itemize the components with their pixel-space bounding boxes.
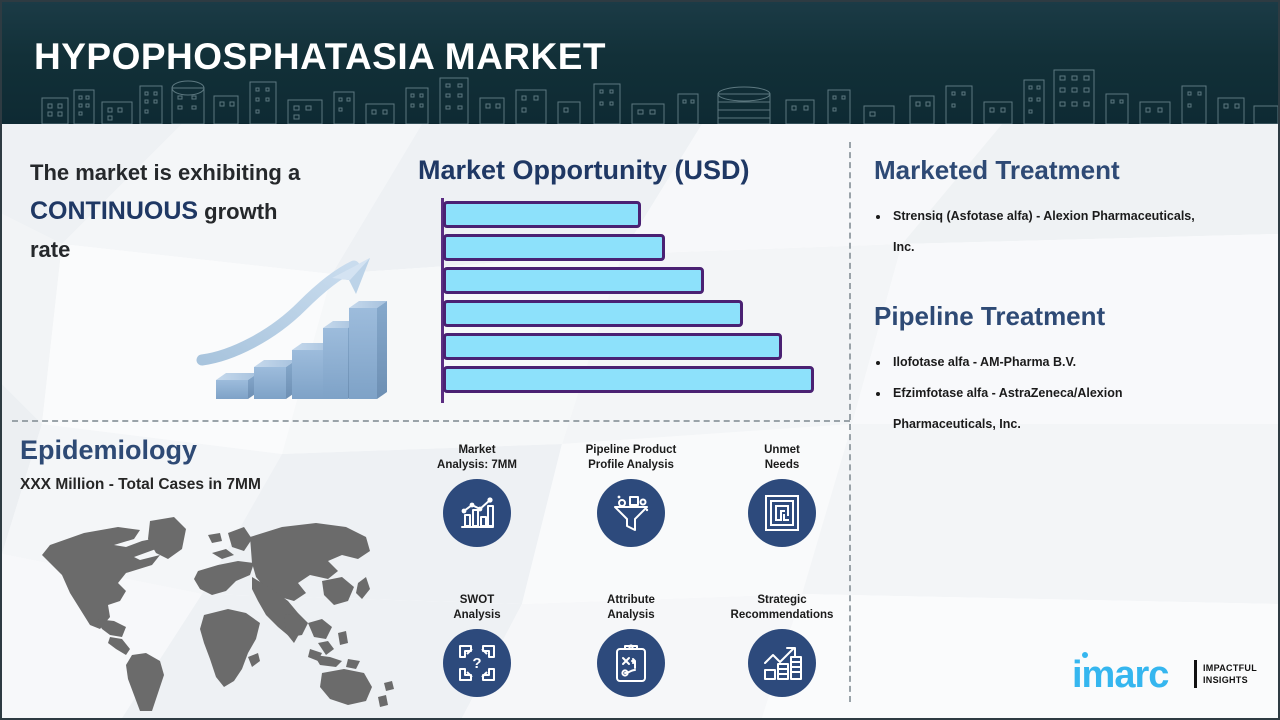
- logo-tagline: IMPACTFUL INSIGHTS: [1203, 662, 1257, 686]
- icon-label-line-2: Analysis: 7MM: [402, 458, 552, 473]
- world-map-icon: [22, 497, 422, 712]
- clipboard-strategy-icon: [611, 642, 651, 684]
- icon-label-line-2: Needs: [707, 458, 857, 473]
- icon-label-line-2: Recommendations: [707, 608, 857, 623]
- 3d-growth-bar-chart-arrow-icon: [192, 252, 407, 412]
- icon-label-line-1: Pipeline Product: [556, 443, 706, 458]
- chart-bar: [443, 267, 704, 294]
- epidemiology-subtitle: XXX Million - Total Cases in 7MM: [20, 476, 261, 494]
- growth-arrow-bars-icon: [761, 643, 803, 683]
- lead-line-3: rate: [30, 237, 70, 262]
- marketed-treatment-title: Marketed Treatment: [874, 155, 1120, 186]
- chart-bar: [443, 300, 743, 327]
- icon-label-line-1: Market: [402, 443, 552, 458]
- icon-cell-pipeline-product-profile-analysis[interactable]: Pipeline Product Profile Analysis: [556, 443, 706, 547]
- swot-arrows-question-icon: ?: [456, 642, 498, 684]
- page-title: HYPOPHOSPHATASIA MARKET: [34, 36, 606, 78]
- icon-cell-attribute-analysis[interactable]: Attribute Analysis: [556, 593, 706, 697]
- market-opportunity-bar-chart: [441, 198, 841, 403]
- icon-circle[interactable]: ?: [443, 629, 511, 697]
- chart-bar: [443, 366, 814, 393]
- svg-text:?: ?: [472, 655, 481, 672]
- header-banner: HYPOPHOSPHATASIA MARKET: [2, 2, 1280, 124]
- icon-circle[interactable]: [443, 479, 511, 547]
- pipeline-treatment-list: Ilofotase alfa - AM-Pharma B.V. Efzimfot…: [874, 347, 1204, 440]
- icon-cell-unmet-needs[interactable]: Unmet Needs: [707, 443, 857, 547]
- icon-label-line-1: Strategic: [707, 593, 857, 608]
- list-item: Strensiq (Asfotase alfa) - Alexion Pharm…: [890, 201, 1204, 263]
- chart-bar: [443, 234, 665, 261]
- icon-label-line-1: SWOT: [402, 593, 552, 608]
- marketed-treatment-list: Strensiq (Asfotase alfa) - Alexion Pharm…: [874, 201, 1204, 263]
- bar-chart-trend-icon: [457, 493, 497, 533]
- icon-circle[interactable]: [748, 629, 816, 697]
- logo-tagline-line-1: IMPACTFUL: [1203, 662, 1257, 674]
- icon-label-line-1: Attribute: [556, 593, 706, 608]
- lead-highlight: CONTINUOUS: [30, 197, 198, 225]
- logo-wordmark: imarc: [1072, 656, 1168, 694]
- icon-cell-strategic-recommendations[interactable]: Strategic Recommendations: [707, 593, 857, 697]
- maze-icon: [762, 493, 802, 533]
- epidemiology-title: Epidemiology: [20, 435, 197, 466]
- list-item: Efzimfotase alfa - AstraZeneca/Alexion P…: [890, 378, 1204, 440]
- icon-label-line-2: Profile Analysis: [556, 458, 706, 473]
- lead-line-2-rest: growth: [198, 199, 277, 224]
- icon-cell-market-analysis[interactable]: Market Analysis: 7MM: [402, 443, 552, 547]
- icon-circle[interactable]: [597, 479, 665, 547]
- logo-divider: [1194, 660, 1197, 688]
- lead-line-1: The market is exhibiting a: [30, 160, 300, 185]
- horizontal-divider: [12, 420, 850, 422]
- funnel-icon: [610, 492, 652, 534]
- imarc-logo: imarc IMPACTFUL INSIGHTS: [1072, 652, 1262, 700]
- icon-label-line-1: Unmet: [707, 443, 857, 458]
- infographic-page: HYPOPHOSPHATASIA MARKET The market is ex…: [0, 0, 1280, 720]
- icon-cell-swot-analysis[interactable]: SWOT Analysis ?: [402, 593, 552, 697]
- icon-label-line-2: Analysis: [402, 608, 552, 623]
- list-item: Ilofotase alfa - AM-Pharma B.V.: [890, 347, 1204, 378]
- icon-circle[interactable]: [597, 629, 665, 697]
- chart-bar: [443, 333, 782, 360]
- pipeline-treatment-title: Pipeline Treatment: [874, 301, 1105, 332]
- chart-bar: [443, 201, 641, 228]
- icon-label-line-2: Analysis: [556, 608, 706, 623]
- icon-circle[interactable]: [748, 479, 816, 547]
- market-opportunity-title: Market Opportunity (USD): [418, 155, 838, 186]
- logo-tagline-line-2: INSIGHTS: [1203, 674, 1257, 686]
